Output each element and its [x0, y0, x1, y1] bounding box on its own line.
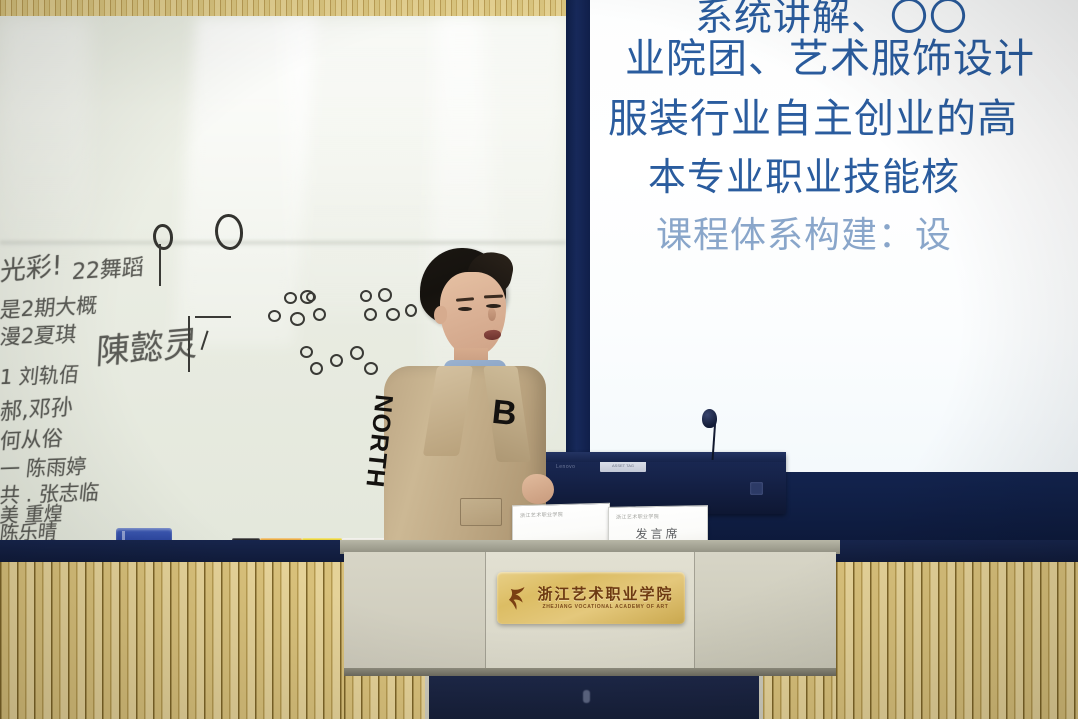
whiteboard-panel-seam: [0, 241, 566, 246]
handwriting-hw1: 光彩!: [0, 245, 63, 289]
laptop-port: [750, 482, 763, 495]
doodle-dot: [330, 354, 343, 367]
face: [440, 272, 506, 356]
doodle-dot: [268, 310, 281, 322]
eye-right: [486, 304, 501, 308]
jacket-pocket: [460, 498, 502, 526]
slide-line-5: 课程体系构建：设: [656, 206, 952, 258]
doodle-circle: [215, 214, 243, 250]
slide-line-3: 服装行业自主创业的高: [608, 86, 1018, 144]
doodle-stroke: [159, 244, 161, 286]
laptop-brand-label: Lenovo: [556, 464, 575, 470]
plaque-english-name: ZHEJIANG VOCATIONAL ACADEMY OF ART: [543, 605, 669, 610]
name-card-logo: 浙江艺术职业学院: [616, 513, 659, 521]
doodle-stroke: [195, 316, 231, 318]
doodle-dot: [360, 290, 372, 302]
wood-slat-wall-lower-left: [344, 676, 425, 719]
slide-line-2: 业院团、艺术服饰设计: [625, 26, 1035, 84]
nose: [488, 308, 496, 321]
eye-left: [458, 307, 472, 311]
name-card-text: [513, 522, 609, 525]
jacket-chest-letter: B: [490, 393, 519, 434]
podium-base-shadow: [344, 668, 836, 676]
slide-line-4: 本专业职业技能核: [648, 146, 960, 201]
doodle-dot: [290, 312, 305, 326]
lecture-hall-photo: 光彩!22舞蹈是2期大概漫2夏琪陳懿灵1 刘轨佰郝,邓孙何从俗一 陈雨婷共 . …: [0, 0, 1078, 719]
doodle-stroke: [188, 316, 190, 372]
dancer-bird-emblem-icon: [508, 585, 530, 611]
wood-slat-wall-lower-right: [755, 676, 836, 719]
microphone-head[interactable]: [702, 409, 717, 428]
wood-slat-wall-left: [0, 562, 344, 719]
projection-screen: 系统讲解、〇〇业院团、艺术服饰设计服装行业自主创业的高本专业职业技能核课程体系构…: [590, 0, 1078, 472]
plaque-chinese-name: 浙江艺术职业学院: [537, 587, 673, 602]
podium-lower-recess: [425, 676, 763, 719]
doodle-dot: [306, 292, 316, 302]
handwriting-hw7: 郝,邓孙: [0, 389, 74, 426]
hand: [522, 474, 554, 504]
presenter: B NORTH: [372, 248, 557, 548]
name-card-logo: 浙江艺术职业学院: [520, 511, 563, 519]
plaque-text-group: 浙江艺术职业学院 ZHEJIANG VOCATIONAL ACADEMY OF …: [537, 587, 673, 610]
ear: [434, 306, 447, 324]
doodle-dot: [313, 308, 326, 321]
institution-plaque: 浙江艺术职业学院 ZHEJIANG VOCATIONAL ACADEMY OF …: [497, 572, 685, 624]
handwriting-hw6: 1 刘轨佰: [0, 359, 81, 391]
handwriting-hw4: 漫2夏琪: [0, 319, 78, 352]
podium-panel-right: [692, 552, 836, 674]
doodle-dot: [310, 362, 323, 375]
handwriting-hw2: 22舞蹈: [71, 249, 145, 286]
laptop-hinge: [546, 452, 786, 462]
doodle-dot: [300, 346, 313, 358]
podium-panel-left: [344, 552, 488, 674]
doodle-dot: [284, 292, 297, 304]
recess-handle[interactable]: [583, 690, 590, 703]
whiteboard-glare: [0, 16, 90, 266]
wood-slat-wall-right: [836, 562, 1078, 719]
handwriting-hw5: 陳懿灵: [95, 315, 199, 373]
doodle-circle: [153, 224, 173, 250]
doodle-stroke: [201, 330, 232, 357]
doodle-dot: [350, 346, 364, 360]
